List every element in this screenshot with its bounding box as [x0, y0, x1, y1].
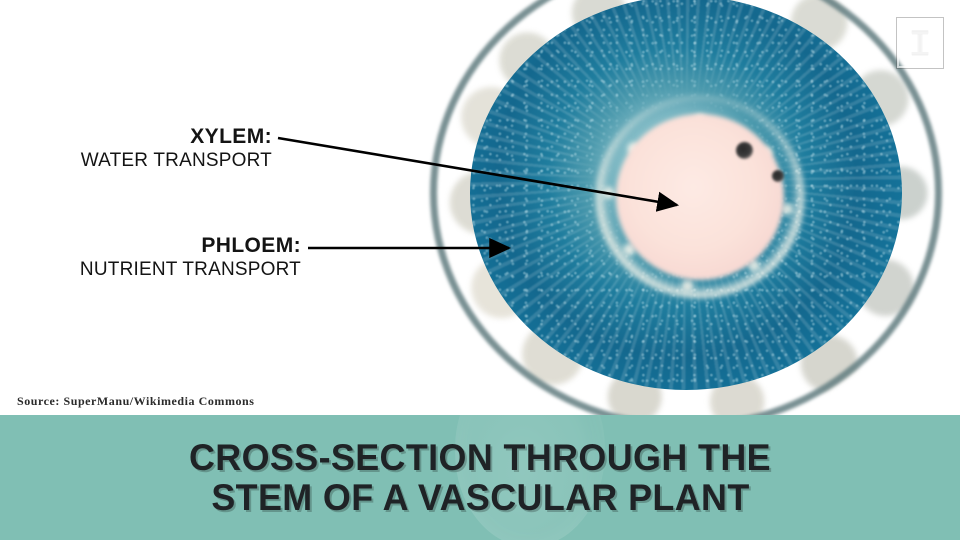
- insider-column-logo: [897, 18, 943, 68]
- pith-dark-spot-small: [772, 170, 784, 182]
- callout-xylem-description: WATER TRANSPORT: [0, 150, 272, 172]
- slide-canvas: XYLEM: WATER TRANSPORT PHLOEM: NUTRIENT …: [0, 0, 960, 540]
- callout-phloem-description: NUTRIENT TRANSPORT: [0, 259, 301, 281]
- caption-line-2: STEM OF A VASCULAR PLANT: [211, 478, 749, 518]
- caption-band: CROSS-SECTION THROUGH THE STEM OF A VASC…: [0, 415, 960, 540]
- source-credit: Source: SuperManu/Wikimedia Commons: [17, 394, 255, 409]
- callout-phloem: PHLOEM: NUTRIENT TRANSPORT: [0, 235, 301, 281]
- column-pillar-icon: [909, 28, 931, 58]
- caption-text-block: CROSS-SECTION THROUGH THE STEM OF A VASC…: [0, 415, 960, 540]
- callout-phloem-term: PHLOEM:: [0, 235, 301, 257]
- pith-dark-spot-large: [736, 142, 753, 159]
- callout-xylem-term: XYLEM:: [0, 126, 272, 148]
- callout-xylem: XYLEM: WATER TRANSPORT: [0, 126, 272, 172]
- pith-center: [616, 114, 784, 280]
- stem-cross-section-image: [418, 0, 960, 438]
- caption-line-1: CROSS-SECTION THROUGH THE: [189, 438, 771, 478]
- micrograph-container: [418, 0, 960, 438]
